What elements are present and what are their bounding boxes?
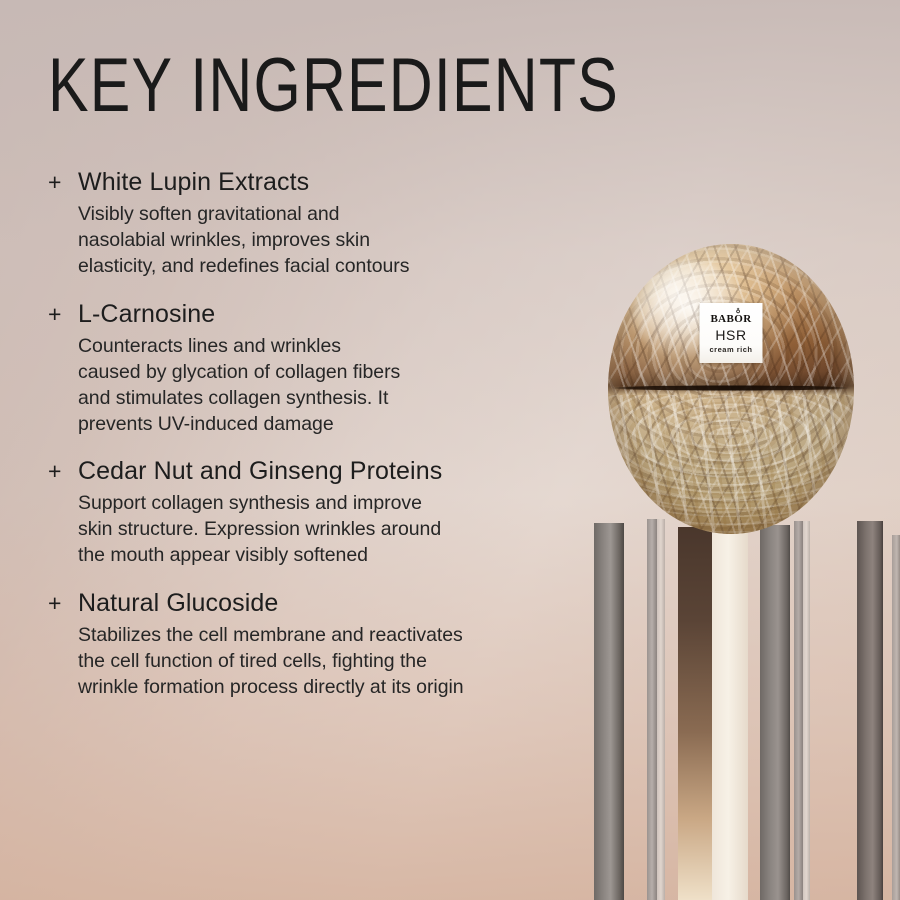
- description-line: wrinkle formation process directly at it…: [78, 675, 593, 701]
- description-line: Stabilizes the cell membrane and reactiv…: [78, 623, 593, 649]
- pedestal-column: [594, 523, 624, 900]
- page-title: KEY INGREDIENTS: [48, 48, 619, 124]
- description-line: the mouth appear visibly softened: [78, 543, 593, 569]
- ingredient-name: L-Carnosine: [78, 300, 215, 328]
- ingredient-name: White Lupin Extracts: [78, 168, 309, 196]
- ingredient-list: + White Lupin Extracts Visibly soften gr…: [48, 168, 593, 721]
- ingredient-name: Cedar Nut and Ginseng Proteins: [78, 457, 442, 485]
- infographic-page: BABOR♁ HSR cream rich KEY INGREDIENTS + …: [0, 0, 900, 900]
- description-line: caused by glycation of collagen fibers: [78, 360, 593, 386]
- ingredient-heading: + L-Carnosine: [48, 300, 593, 328]
- ingredient-heading: + Cedar Nut and Ginseng Proteins: [48, 457, 593, 485]
- product-label: BABOR♁ HSR cream rich: [700, 303, 763, 363]
- ingredient-heading: + Natural Glucoside: [48, 589, 593, 617]
- plus-icon: +: [48, 170, 78, 196]
- ingredient-name: Natural Glucoside: [78, 589, 278, 617]
- product-variant-name: cream rich: [710, 346, 753, 354]
- plus-icon: +: [48, 459, 78, 485]
- description-line: prevents UV-induced damage: [78, 412, 593, 438]
- description-line: the cell function of tired cells, fighti…: [78, 649, 593, 675]
- pedestal-column: [803, 521, 810, 900]
- ingredient-item: + L-Carnosine Counteracts lines and wrin…: [48, 300, 593, 438]
- pedestal: [560, 505, 900, 900]
- pedestal-column: [678, 527, 712, 900]
- pedestal-column: [857, 521, 883, 900]
- ingredient-item: + Cedar Nut and Ginseng Proteins Support…: [48, 457, 593, 569]
- brand-crown-icon: ♁: [736, 309, 741, 315]
- brand-name: BABOR♁: [710, 314, 751, 325]
- description-line: and stimulates collagen synthesis. It: [78, 386, 593, 412]
- description-line: nasolabial wrinkles, improves skin: [78, 228, 593, 254]
- plus-icon: +: [48, 591, 78, 617]
- description-line: elasticity, and redefines facial contour…: [78, 254, 593, 280]
- ingredient-item: + White Lupin Extracts Visibly soften gr…: [48, 168, 593, 280]
- pedestal-column: [794, 521, 803, 900]
- ingredient-description: Support collagen synthesis and improve s…: [78, 491, 593, 569]
- ingredient-description: Counteracts lines and wrinkles caused by…: [78, 334, 593, 438]
- description-line: Support collagen synthesis and improve: [78, 491, 593, 517]
- plus-icon: +: [48, 302, 78, 328]
- ingredient-description: Stabilizes the cell membrane and reactiv…: [78, 623, 593, 701]
- ingredient-item: + Natural Glucoside Stabilizes the cell …: [48, 589, 593, 701]
- description-line: skin structure. Expression wrinkles arou…: [78, 517, 593, 543]
- description-line: Counteracts lines and wrinkles: [78, 334, 593, 360]
- product-line-name: HSR: [715, 328, 746, 342]
- pedestal-column: [712, 533, 748, 900]
- pedestal-column: [647, 519, 657, 900]
- product-jar: BABOR♁ HSR cream rich: [608, 244, 854, 534]
- pedestal-column: [657, 519, 665, 900]
- jar-rim-shading: [608, 244, 854, 534]
- ingredient-description: Visibly soften gravitational and nasolab…: [78, 202, 593, 280]
- pedestal-column: [760, 525, 790, 900]
- ingredient-heading: + White Lupin Extracts: [48, 168, 593, 196]
- pedestal-column: [892, 535, 900, 900]
- description-line: Visibly soften gravitational and: [78, 202, 593, 228]
